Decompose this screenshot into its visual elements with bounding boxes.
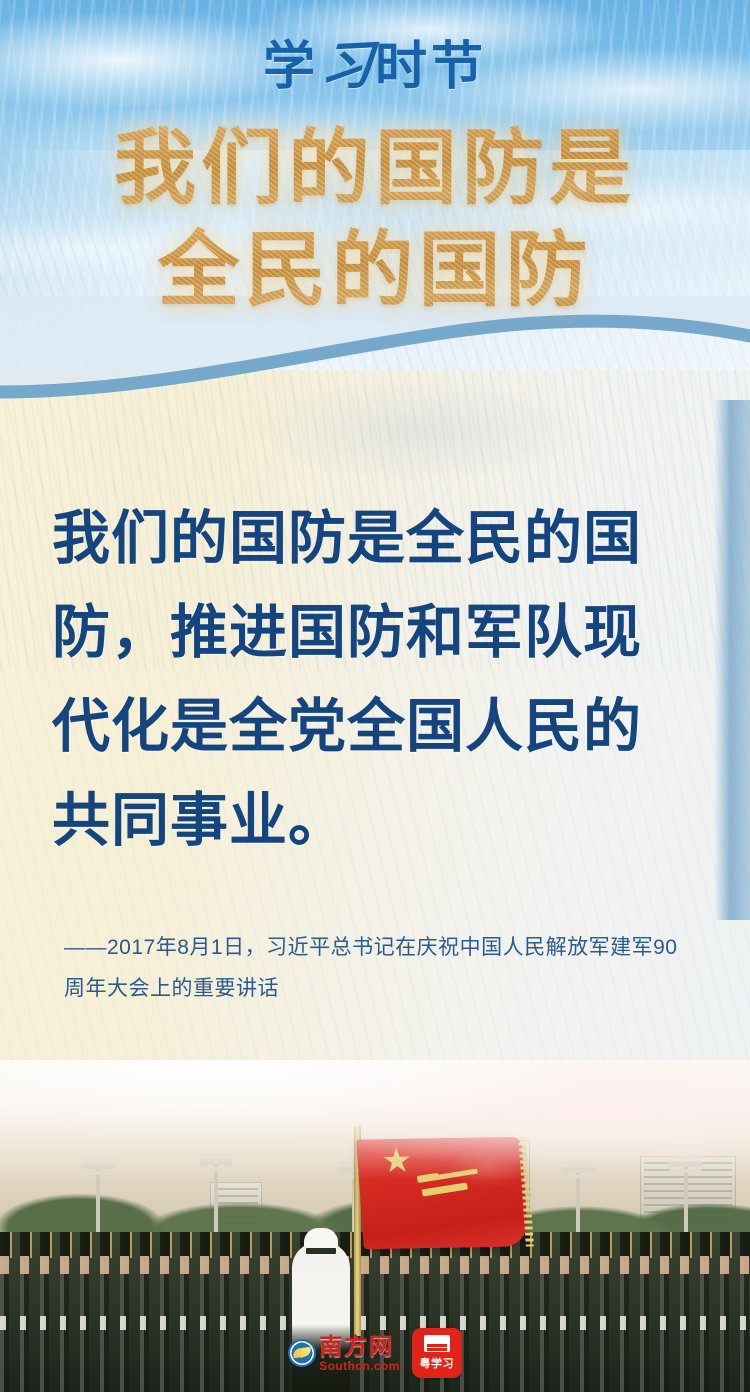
brand-char-jie: 节 (431, 38, 487, 96)
poster-canvas: 学习时节 我们的国防是 全民的国防 我们的国防是全民的国防，推进国防和军队现代化… (0, 0, 750, 1392)
southcn-logo-text: 南方网 Southcn.com (319, 1335, 399, 1372)
brand-logo-text: 学习时节 (0, 24, 750, 99)
quote-text: 我们的国防是全民的国防，推进国防和军队现代化是全党全国人民的共同事业。 (52, 492, 698, 868)
logo-bar: 南方网 Southcn.com 粤学习 (0, 1328, 750, 1378)
yuexuexi-logo[interactable]: 粤学习 (412, 1328, 462, 1378)
brand-char-xi-calligraphic: 习 (316, 23, 378, 101)
southcn-chinese-name: 南方网 (319, 1335, 399, 1358)
title-line-1: 我们的国防是 (0, 118, 750, 220)
southcn-logo[interactable]: 南方网 Southcn.com (288, 1335, 399, 1372)
quote-attribution: ——2017年8月1日，习近平总书记在庆祝中国人民解放军建军90周年大会上的重要… (64, 928, 690, 1010)
southcn-domain: Southcn.com (319, 1360, 399, 1372)
brand-char-shi: 时 (375, 38, 431, 96)
street-lamp-5 (576, 1172, 580, 1234)
book-icon (424, 1335, 450, 1352)
poster-title: 我们的国防是 全民的国防 (0, 118, 750, 321)
title-line-2: 全民的国防 (0, 220, 750, 322)
blue-wave-divider (0, 296, 750, 476)
panel-right-blue-edge (714, 400, 750, 920)
photo-top-fade (0, 1060, 750, 1180)
brand-char-xue: 学 (263, 38, 319, 96)
southcn-globe-icon (288, 1339, 316, 1367)
flag-gold-bars-icon (421, 1182, 468, 1196)
soldier-faces-row (0, 1256, 750, 1274)
yuexuexi-label: 粤学习 (419, 1355, 454, 1371)
